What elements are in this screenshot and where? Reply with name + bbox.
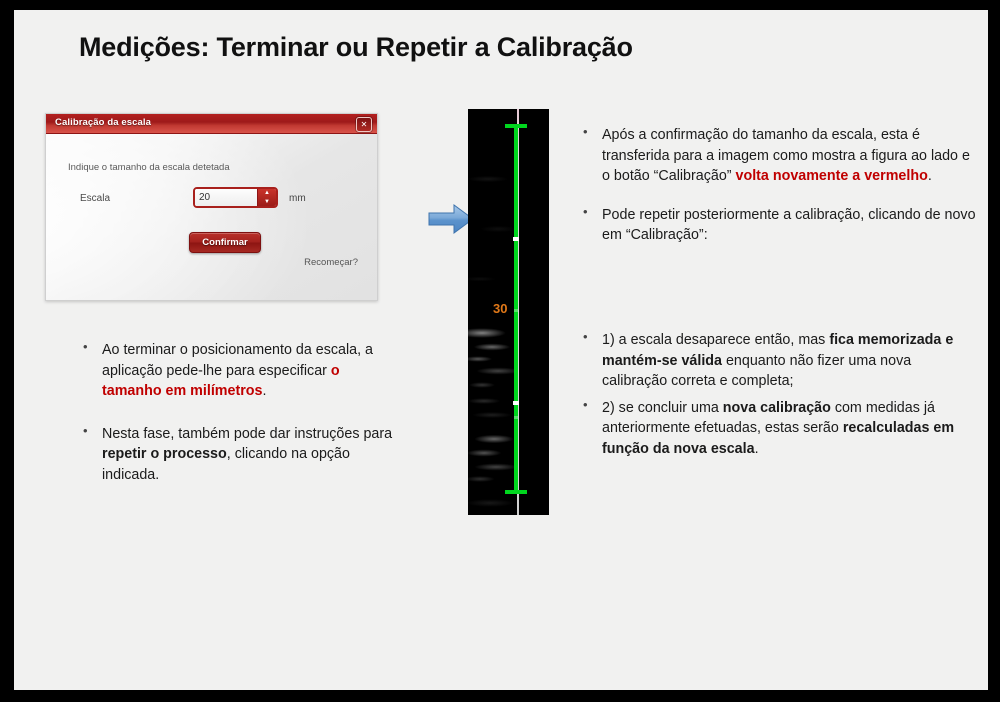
right-bullet-list-top: Após a confirmação do tamanho da escala,… [576,125,976,264]
dialog-gloss [45,132,306,301]
bullet-text: 2) se concluir uma nova calibração com m… [602,398,976,460]
bullet-item: Pode repetir posteriormente a calibração… [576,205,976,246]
page-title: Medições: Terminar ou Repetir a Calibraç… [79,32,779,63]
bullet-item: Ao terminar o posicionamento da escala, … [76,340,396,402]
stepper-down-icon[interactable]: ▼ [258,198,276,206]
bullet-text-run: . [262,383,266,399]
ultrasound-dark-margin [527,109,549,515]
bullet-text: Após a confirmação do tamanho da escala,… [602,125,976,187]
bullet-text-run: repetir o processo [102,446,227,462]
bullet-text: Ao terminar o posicionamento da escala, … [102,340,396,402]
bullet-text-run: volta novamente a vermelho [736,168,928,184]
scale-cap-bottom [505,490,527,494]
bullet-text: Nesta fase, também pode dar instruções p… [102,424,396,486]
bullet-item: Após a confirmação do tamanho da escala,… [576,125,976,187]
stepper-buttons[interactable]: ▲ ▼ [257,189,276,206]
bullet-item: 1) a escala desaparece então, mas fica m… [576,330,976,392]
left-bullet-list: Ao terminar o posicionamento da escala, … [76,340,396,507]
ultrasound-image: 30 [468,109,549,515]
calibration-dialog: Calibração da escala ✕ Indique o tamanho… [45,113,378,301]
bullet-text-run: 1) a escala desaparece então, mas [602,332,829,348]
bullet-text-run: . [928,168,932,184]
confirm-button[interactable]: Confirmar [189,232,261,253]
bullet-text: 1) a escala desaparece então, mas fica m… [602,330,976,392]
bullet-item: Nesta fase, também pode dar instruções p… [76,424,396,486]
bullet-text-run: nova calibração [723,400,831,416]
slide-canvas: Medições: Terminar ou Repetir a Calibraç… [14,10,988,690]
scale-stepper[interactable]: ▲ ▼ [193,187,278,208]
bullet-text-run: Nesta fase, também pode dar instruções p… [102,426,392,442]
right-bullet-list-bottom: 1) a escala desaparece então, mas fica m… [576,330,976,465]
scale-tick [514,416,518,419]
dialog-hint-text: Indique o tamanho da escala detetada [68,162,230,173]
scale-cap-top [505,124,527,128]
bullet-text-run: . [755,441,759,457]
scale-unit-label: mm [289,193,306,204]
stepper-up-icon[interactable]: ▲ [258,189,276,197]
bullet-text-run: Pode repetir posteriormente a calibração… [602,207,976,244]
bullet-text: Pode repetir posteriormente a calibração… [602,205,976,246]
scale-tick [514,309,518,312]
scale-value-label: 30 [493,301,507,316]
scale-field-label: Escala [80,193,110,204]
scale-tick [513,401,519,405]
scale-tick [513,237,519,241]
bullet-item: 2) se concluir uma nova calibração com m… [576,398,976,460]
dialog-title: Calibração da escala [55,117,151,128]
scale-input[interactable] [195,189,258,206]
restart-link[interactable]: Recomeçar? [304,257,358,268]
ultrasound-figure: 30 [468,109,549,515]
close-icon[interactable]: ✕ [356,117,372,132]
bullet-text-run: 2) se concluir uma [602,400,723,416]
